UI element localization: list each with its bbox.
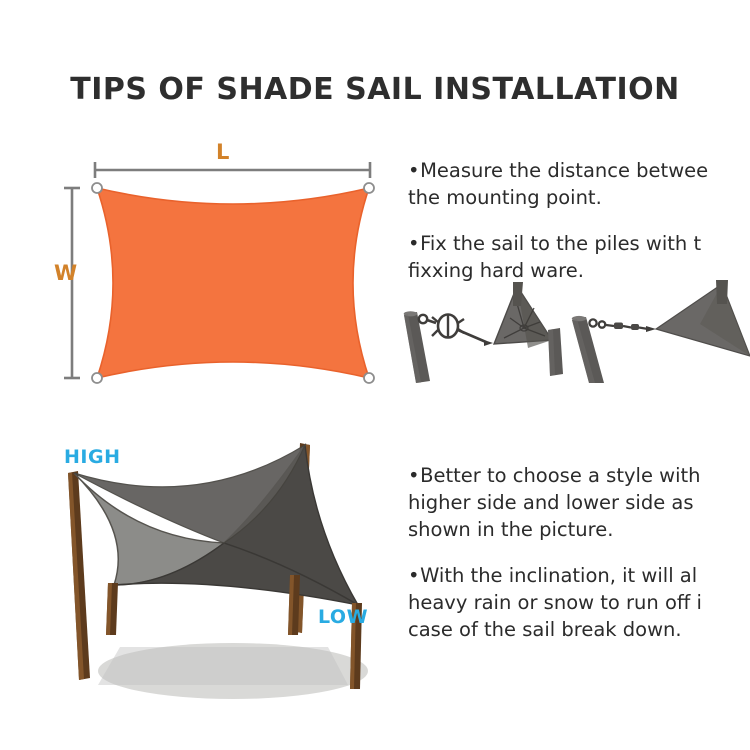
crossed-canopy-diagram: HIGH LOW (28, 435, 418, 735)
low-label: LOW (318, 608, 368, 627)
rectangular-shade-sail-diagram: L W (40, 130, 400, 415)
chain (589, 319, 648, 330)
grommet-bottom-right (364, 373, 374, 383)
tip-line-text: shown in the picture. (408, 517, 750, 544)
tip-line: •Fix the sail to the piles with t (408, 231, 750, 258)
tip-line-text: heavy rain or snow to run off i (408, 590, 750, 617)
tip-paragraph-style: •Better to choose a style with higher si… (408, 463, 750, 544)
width-label: W (54, 263, 77, 284)
tip-line-text: Measure the distance betwee (420, 159, 708, 182)
eye-bolt (419, 315, 427, 323)
pole-high-back-left (68, 471, 90, 680)
tip-paragraph-measure: •Measure the distance betwee the mountin… (408, 158, 750, 212)
page-title: TIPS OF SHADE SAIL INSTALLATION (0, 72, 750, 107)
tip-line-text: case of the sail break down. (408, 617, 750, 644)
tension-wire (458, 330, 486, 342)
tip-paragraph-drainage: •With the inclination, it will al heavy … (408, 563, 750, 644)
inclination-text: •Better to choose a style with higher si… (408, 463, 750, 644)
bullet-icon: • (408, 563, 420, 590)
sail-corner-fabric (656, 284, 750, 356)
grommet-top-left (92, 183, 102, 193)
canopy-svg (28, 435, 418, 735)
tip-line-text: Better to choose a style with (420, 464, 700, 487)
bullet-icon: • (408, 158, 420, 185)
turnbuckle (432, 315, 464, 338)
section-measure-and-fix: L W •Measure the distance betwee the mou… (0, 130, 750, 415)
shackle (484, 340, 493, 346)
shackle-right (646, 326, 656, 332)
ground-shadow-quad (98, 647, 348, 685)
triangular-sail-corner-plate (494, 286, 552, 348)
bullet-icon: • (408, 231, 420, 258)
section-inclination: HIGH LOW •Better to choose a style with … (0, 435, 750, 735)
tip-line: •Measure the distance betwee (408, 158, 750, 185)
tip-line: •Better to choose a style with (408, 463, 750, 490)
pole-chain-sail-corner (572, 280, 750, 383)
tip-line-text: With the inclination, it will al (420, 564, 697, 587)
pole-mid-right (288, 575, 300, 635)
length-label: L (216, 142, 229, 163)
pole-turnbuckle-triangle-fitting (404, 282, 563, 383)
length-dimension-line (95, 162, 370, 178)
bullet-icon: • (408, 463, 420, 490)
post-top-right (716, 280, 728, 304)
tip-line-text: higher side and lower side as (408, 490, 750, 517)
sail-fabric (97, 188, 369, 378)
pole-short-front-left (106, 583, 118, 635)
shade-sail-svg (40, 130, 400, 415)
high-label: HIGH (64, 448, 120, 467)
grommet-top-right (364, 183, 374, 193)
tip-line: •With the inclination, it will al (408, 563, 750, 590)
hardware-svg (400, 278, 750, 383)
grommet-bottom-left (92, 373, 102, 383)
measure-and-fix-text: •Measure the distance betwee the mountin… (408, 158, 750, 285)
tip-line-text: the mounting point. (408, 185, 750, 212)
tip-line-text: Fix the sail to the piles with t (420, 232, 701, 255)
fixing-hardware-illustrations (400, 278, 750, 383)
infographic-page: TIPS OF SHADE SAIL INSTALLATION (0, 0, 750, 750)
